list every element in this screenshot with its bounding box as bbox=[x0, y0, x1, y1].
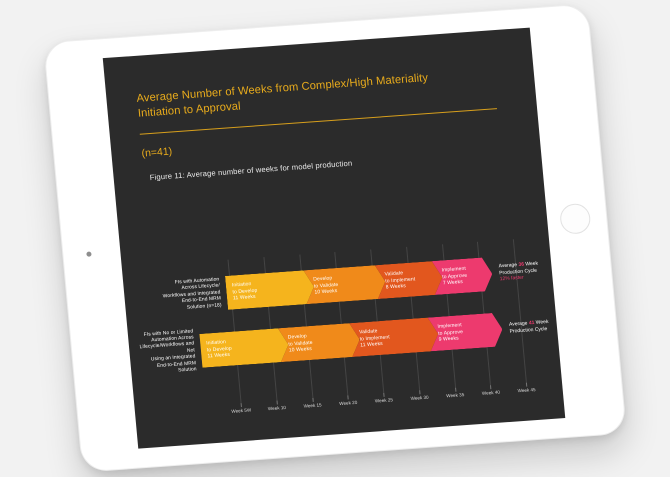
presentation-slide: Average Number of Weeks from Complex/Hig… bbox=[103, 28, 566, 449]
axis-tick-label: Week 25 bbox=[375, 397, 393, 403]
axis-tick-label: Week 5W bbox=[231, 407, 251, 413]
stage-chevron-implement-to-approve: Implement to Approve 9 Weeks bbox=[428, 312, 504, 351]
axis-tick bbox=[526, 383, 527, 387]
stage-chevron-initiation-to-develop: Initiation to Develop 11 Weeks bbox=[199, 328, 290, 368]
axis-tick-label: Week 45 bbox=[517, 387, 535, 393]
process-flow-chart: FIs with Automation Across Lifecycle/ Wo… bbox=[132, 237, 556, 436]
stage-chevron-validate-to-implement: Validate to Implement 11 Weeks bbox=[349, 317, 440, 357]
summary-suffix: Week bbox=[524, 261, 539, 268]
axis-tick bbox=[241, 403, 242, 407]
axis-tick-label: Week 10 bbox=[268, 405, 286, 411]
axis-tick bbox=[348, 395, 349, 399]
stage-chevron-develop-to-validate: Develop to Validate 10 Weeks bbox=[278, 323, 361, 363]
front-camera-icon bbox=[86, 251, 91, 256]
summary-annotation: 12% faster bbox=[500, 274, 540, 283]
screenshot-stage: Average Number of Weeks from Complex/Hig… bbox=[0, 0, 670, 477]
axis-tick bbox=[383, 393, 384, 397]
row-label: FIs with Automation Across Lifecycle/ Wo… bbox=[133, 277, 228, 315]
axis-tick bbox=[276, 401, 277, 405]
tablet-device: Average Number of Weeks from Complex/Hig… bbox=[43, 3, 627, 472]
row-label-line: End-to-End MRM Solution bbox=[141, 361, 197, 378]
axis-tick bbox=[490, 385, 491, 389]
axis-tick-label: Week 40 bbox=[482, 390, 500, 396]
tablet-screen: Average Number of Weeks from Complex/Hig… bbox=[103, 28, 566, 449]
axis-tick bbox=[455, 388, 456, 392]
summary-cycle-label: Production Cycle bbox=[509, 326, 549, 335]
page-title: Average Number of Weeks from Complex/Hig… bbox=[136, 66, 506, 121]
stage-chevron-develop-to-validate: Develop to Validate 10 Weeks bbox=[303, 265, 386, 305]
axis-tick bbox=[312, 398, 313, 402]
row-summary: Average 41 Week Production Cycle bbox=[509, 319, 550, 335]
axis-tick-label: Week 15 bbox=[303, 402, 321, 408]
axis-tick bbox=[419, 390, 420, 394]
home-button[interactable] bbox=[559, 203, 592, 235]
axis-tick-label: Week 35 bbox=[446, 392, 464, 398]
row-label: FIs with No or Limited Automation Across… bbox=[138, 329, 203, 378]
stage-chevron-initiation-to-develop: Initiation to Develop 11 Weeks bbox=[225, 270, 316, 310]
stage-chevron-validate-to-implement: Validate to Implement 8 Weeks bbox=[375, 260, 444, 299]
row-summary: Average 36 Week Production Cycle 12% fas… bbox=[498, 261, 539, 284]
axis-tick-label: Week 20 bbox=[339, 400, 357, 406]
axis-tick-label: Week 30 bbox=[410, 395, 428, 401]
